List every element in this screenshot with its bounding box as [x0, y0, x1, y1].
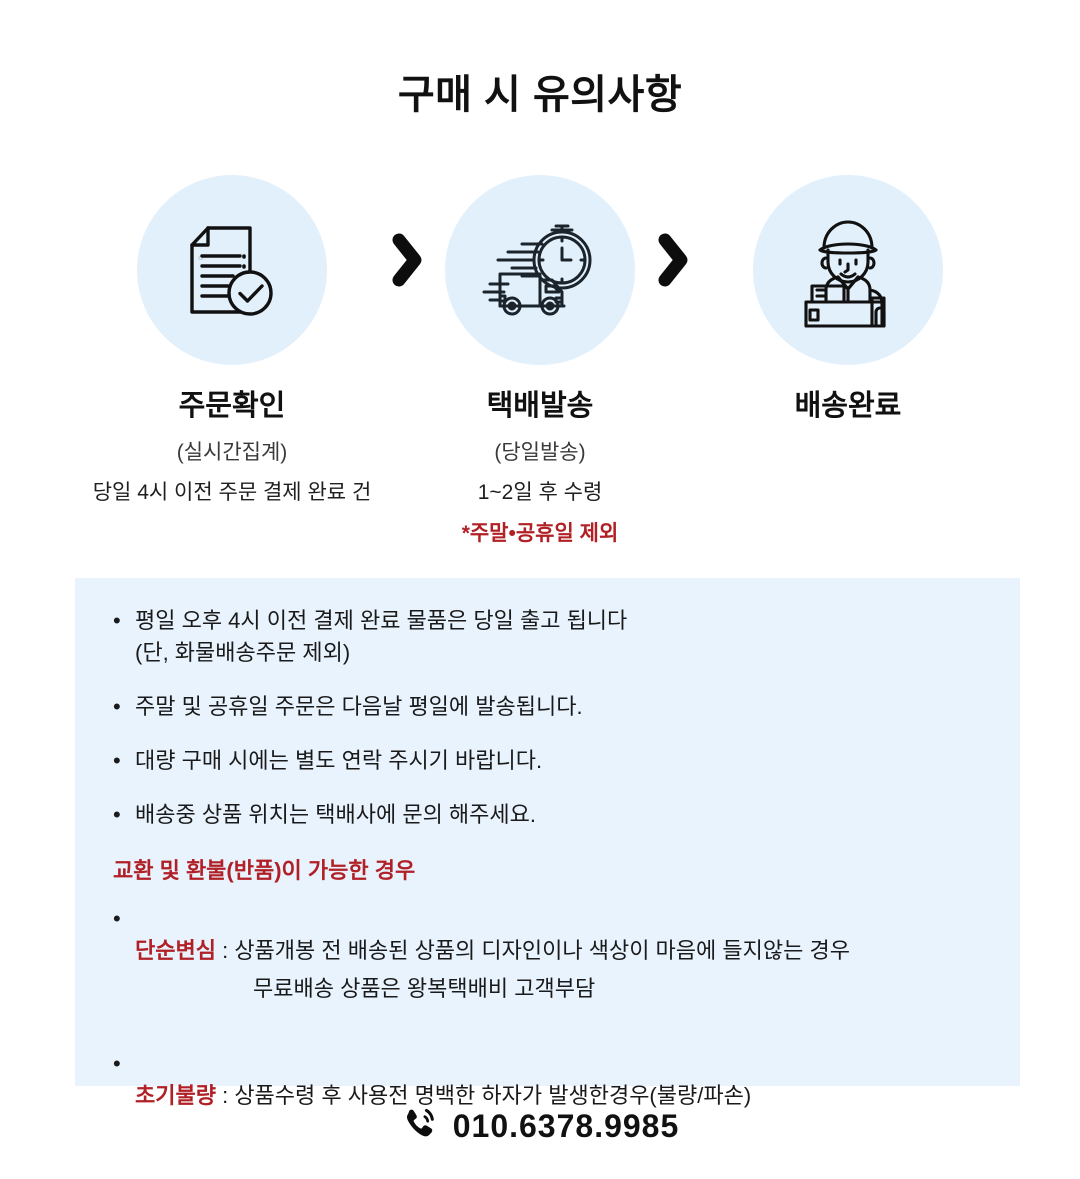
step-1-label: 주문확인 — [179, 391, 286, 423]
phone-number: 010.6378.9985 — [453, 1108, 680, 1145]
bullet-icon: • — [113, 605, 135, 637]
refund-reason-text: 상품개봉 전 배송된 상품의 디자인이나 색상이 마음에 들지않는 경우 — [234, 938, 850, 963]
delivery-steps: 주문확인 (실시간집계) 당일 4시 이전 주문 결제 완료 건 — [0, 175, 1080, 547]
contact-footer: 010.6378.9985 — [0, 1106, 1080, 1147]
refund-heading: 교환 및 환불(반품)이 가능한 경우 — [75, 853, 1020, 885]
purchase-notice-page: 구매 시 유의사항 주문확인 (실시간집계) — [0, 0, 1080, 1179]
list-item: • 대량 구매 시에는 별도 연락 주시기 바랍니다. — [75, 745, 1020, 777]
bullet-icon: • — [113, 691, 135, 723]
refund-reason-label: 초기불량 — [135, 1083, 216, 1108]
bullet-icon: • — [113, 799, 135, 831]
document-check-icon — [176, 214, 288, 326]
notice-text: 평일 오후 4시 이전 결제 완료 물품은 당일 출고 됩니다 (단, 화물배송… — [135, 605, 627, 669]
phone-ringing-icon — [401, 1106, 437, 1147]
refund-reason-text: 상품수령 후 사용전 명백한 하자가 발생한경우(불량/파손) — [234, 1083, 751, 1108]
bullet-icon: • — [113, 745, 135, 777]
chevron-right-icon — [377, 233, 437, 287]
notice-text: 주말 및 공휴일 주문은 다음날 평일에 발송됩니다. — [135, 691, 583, 723]
list-item-refund-change-of-mind: • 단순변심 : 상품개봉 전 배송된 상품의 디자인이나 색상이 마음에 들지… — [75, 903, 1020, 1037]
notice-text: 대량 구매 시에는 별도 연락 주시기 바랍니다. — [135, 745, 542, 777]
list-item-refund-defective: • 초기불량 : 상품수령 후 사용전 명백한 하자가 발생한경우(불량/파손) — [75, 1048, 1020, 1112]
refund-reason-label: 단순변심 — [135, 938, 216, 963]
notice-list: • 평일 오후 4시 이전 결제 완료 물품은 당일 출고 됩니다 (단, 화물… — [75, 578, 1020, 1112]
step-shipping: 택배발송 (당일발송) 1~2일 후 수령 *주말•공휴일 제외 — [437, 175, 643, 547]
list-item: • 평일 오후 4시 이전 결제 완료 물품은 당일 출고 됩니다 (단, 화물… — [75, 605, 1020, 669]
step-1-note: 당일 4시 이전 주문 결제 완료 건 — [93, 476, 372, 506]
page-title: 구매 시 유의사항 — [0, 62, 1080, 120]
step-2-warning: *주말•공휴일 제외 — [462, 517, 619, 547]
list-item: • 주말 및 공휴일 주문은 다음날 평일에 발송됩니다. — [75, 691, 1020, 723]
step-3-icon-circle — [753, 175, 943, 365]
step-1-sub: (실시간집계) — [177, 436, 288, 466]
notice-text: 초기불량 : 상품수령 후 사용전 명백한 하자가 발생한경우(불량/파손) — [135, 1048, 751, 1112]
refund-reason-continuation: 무료배송 상품은 왕복택배비 고객부담 — [135, 973, 850, 1005]
chevron-right-icon-2 — [643, 233, 703, 287]
refund-separator: : — [216, 938, 234, 963]
delivery-person-boxes-icon — [786, 208, 910, 332]
step-2-icon-circle — [445, 175, 635, 365]
delivery-truck-stopwatch-icon — [478, 208, 602, 332]
step-delivered: 배송완료 — [703, 175, 993, 423]
step-2-note: 1~2일 후 수령 — [478, 476, 603, 506]
step-2-sub: (당일발송) — [494, 436, 585, 466]
notice-text: 배송중 상품 위치는 택배사에 문의 해주세요. — [135, 799, 536, 831]
step-2-label: 택배발송 — [487, 391, 594, 423]
step-3-label: 배송완료 — [795, 391, 902, 423]
step-1-icon-circle — [137, 175, 327, 365]
refund-separator: : — [216, 1083, 234, 1108]
bullet-icon: • — [113, 1048, 135, 1080]
notice-box: • 평일 오후 4시 이전 결제 완료 물품은 당일 출고 됩니다 (단, 화물… — [75, 578, 1020, 1086]
bullet-icon: • — [113, 903, 135, 935]
step-order-confirm: 주문확인 (실시간집계) 당일 4시 이전 주문 결제 완료 건 — [87, 175, 377, 506]
notice-text: 단순변심 : 상품개봉 전 배송된 상품의 디자인이나 색상이 마음에 들지않는… — [135, 903, 850, 1037]
list-item: • 배송중 상품 위치는 택배사에 문의 해주세요. — [75, 799, 1020, 831]
